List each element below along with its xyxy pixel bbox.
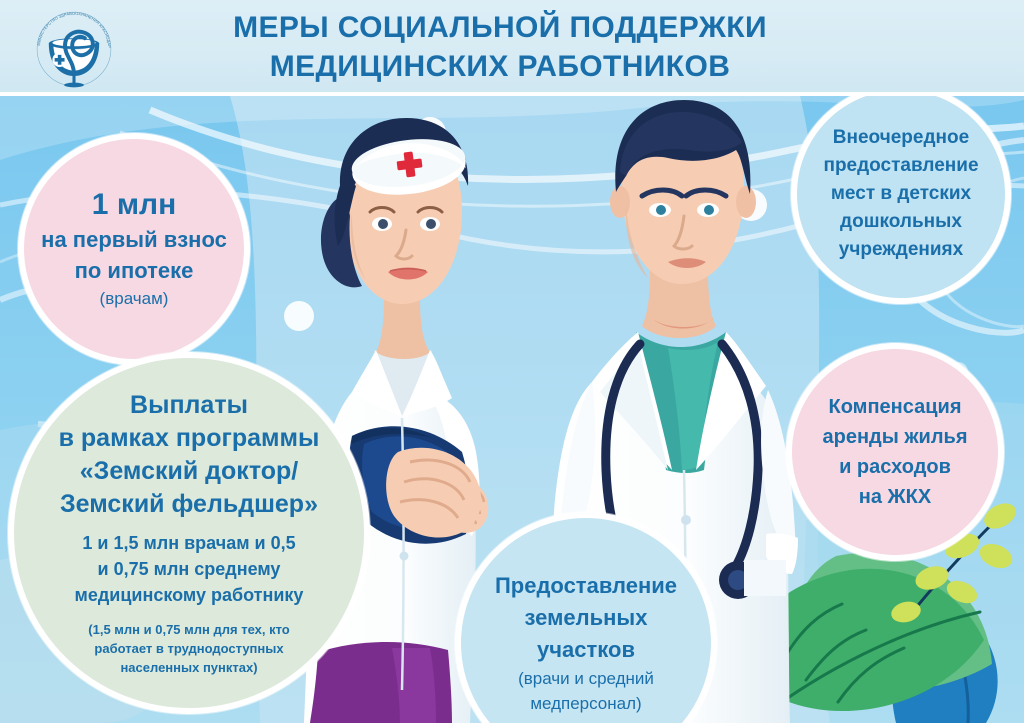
zemsky-detail-1: 1 и 1,5 млн врачам и 0,5 [82,530,295,556]
mortgage-line-2: по ипотеке [75,255,194,286]
mortgage-line-1: на первый взнос [41,224,227,255]
title-line-2: МЕДИЦИНСКИХ РАБОТНИКОВ [150,47,850,86]
kindergarten-line-2: предоставление [823,152,978,180]
infographic-poster: МИНИСТЕРСТВО ЗДРАВООХРАНЕНИЯ КРАСНОДАРСК… [0,0,1024,723]
kindergarten-line-4: дошкольных [840,208,962,236]
land-note-2: медперсонал) [530,691,641,716]
zemsky-line-3: «Земский доктор/ [80,455,298,488]
mortgage-amount: 1 млн [92,186,176,224]
land-line-2: земельных [525,602,648,634]
rent-line-1: Компенсация [829,392,962,422]
zemsky-line-2: в рамках программы [59,422,320,455]
title-line-1: МЕРЫ СОЦИАЛЬНОЙ ПОДДЕРЖКИ [150,8,850,47]
rent-line-4: на ЖКХ [859,482,931,512]
poster-header: МИНИСТЕРСТВО ЗДРАВООХРАНЕНИЯ КРАСНОДАРСК… [0,0,1024,96]
benefit-card-rent-compensation[interactable]: Компенсация аренды жилья и расходов на Ж… [786,343,1004,561]
zemsky-note-2: работает в труднодоступных [94,639,283,658]
zemsky-line-4: Земский фельдшер» [60,488,318,521]
benefit-card-mortgage[interactable]: 1 млн на первый взнос по ипотеке (врачам… [18,133,250,365]
land-note-1: (врачи и средний [518,666,654,691]
kindergarten-line-3: мест в детских [831,180,971,208]
benefit-card-zemsky-doctor[interactable]: Выплаты в рамках программы «Земский докт… [8,352,370,714]
land-line-1: Предоставление [495,570,677,602]
kindergarten-line-1: Внеочередное [833,124,969,152]
zemsky-detail-3: медицинскому работнику [75,582,304,608]
zemsky-note-1: (1,5 млн и 0,75 млн для тех, кто [88,620,289,639]
rent-line-3: и расходов [839,452,951,482]
land-line-3: участков [537,634,635,666]
zemsky-detail-2: и 0,75 млн среднему [98,556,281,582]
zemsky-line-1: Выплаты [130,389,248,422]
rent-line-2: аренды жилья [822,422,967,452]
zemsky-note-3: населенных пунктах) [120,658,257,677]
kindergarten-line-5: учреждениях [839,236,963,264]
mortgage-note: (врачам) [100,286,169,312]
page-title: МЕРЫ СОЦИАЛЬНОЙ ПОДДЕРЖКИ МЕДИЦИНСКИХ РА… [150,8,850,86]
benefit-card-kindergarten[interactable]: Внеочередное предоставление мест в детск… [791,84,1011,304]
ministry-of-health-logo: МИНИСТЕРСТВО ЗДРАВООХРАНЕНИЯ КРАСНОДАРСК… [28,4,120,94]
